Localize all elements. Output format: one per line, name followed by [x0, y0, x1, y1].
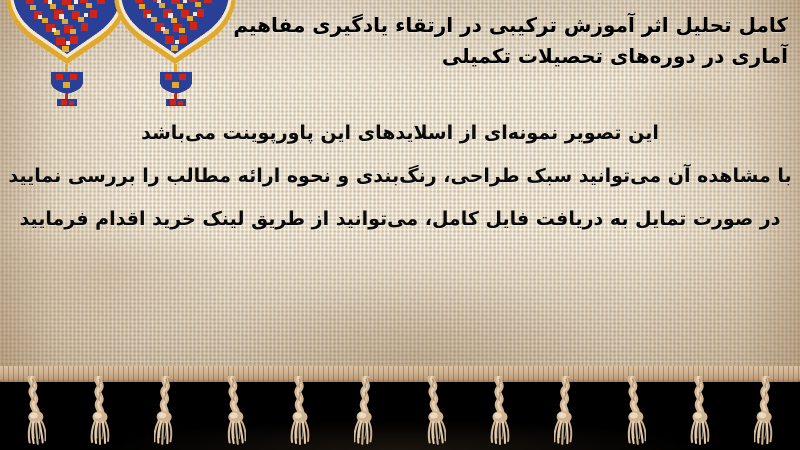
body-line-2: با مشاهده آن می‌توانید سبک طراحی، رنگ‌بن… — [0, 155, 800, 198]
tassel — [287, 376, 313, 448]
slide-title-line-1: کامل تحلیل اثر آموزش ترکیبی در ارتقاء یا… — [230, 10, 788, 41]
tassel — [220, 376, 246, 448]
carpet-bound-edge — [0, 366, 800, 382]
tassel — [87, 376, 113, 448]
tassel — [154, 376, 180, 448]
tassel — [354, 376, 380, 448]
carpet-fringe-band — [0, 366, 800, 450]
tassel — [620, 376, 646, 448]
carpet-ornament-group — [0, 0, 250, 106]
carpet-medallion-right — [112, 0, 238, 106]
slide-title-line-2: آماری در دوره‌های تحصیلات تکمیلی — [230, 41, 788, 72]
slide-canvas: کامل تحلیل اثر آموزش ترکیبی در ارتقاء یا… — [0, 0, 800, 450]
tassel — [20, 376, 46, 448]
tassel — [487, 376, 513, 448]
tassel — [554, 376, 580, 448]
tassel — [754, 376, 780, 448]
tassel — [420, 376, 446, 448]
slide-body-text: این تصویر نمونه‌ای از اسلایدهای این پاور… — [0, 112, 800, 241]
slide-title: کامل تحلیل اثر آموزش ترکیبی در ارتقاء یا… — [230, 10, 788, 72]
body-line-3: در صورت تمایل به دریافت فایل کامل، می‌تو… — [0, 198, 800, 241]
tassel — [687, 376, 713, 448]
body-line-1: این تصویر نمونه‌ای از اسلایدهای این پاور… — [0, 112, 800, 155]
